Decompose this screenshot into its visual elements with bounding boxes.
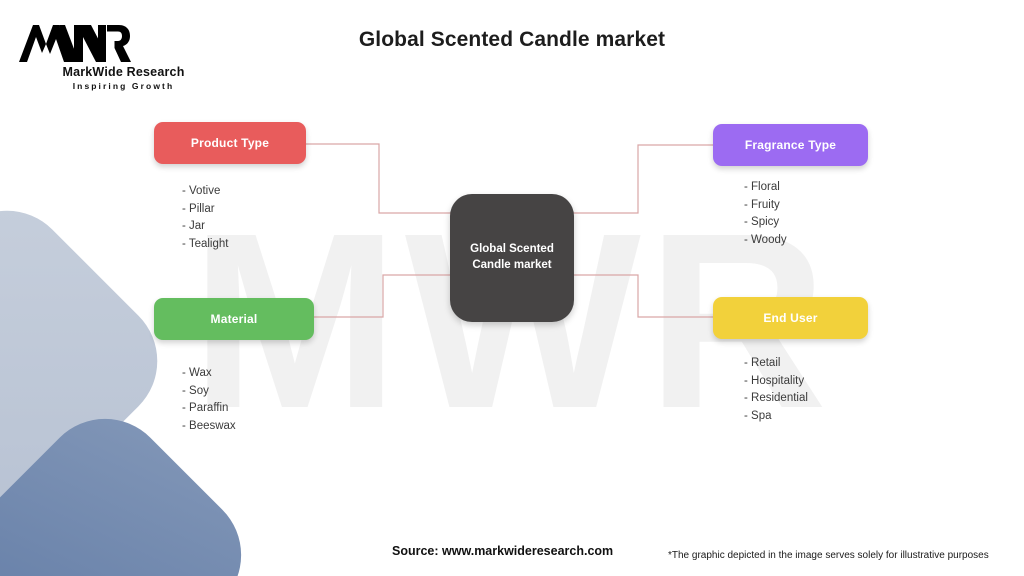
category-items-product-type: - Votive - Pillar - Jar - Tealight [154, 183, 306, 253]
category-end-user: End User - Retail - Hospitality - Reside… [713, 297, 868, 425]
category-label-product-type: Product Type [191, 136, 269, 150]
list-item: - Paraffin [182, 400, 314, 418]
center-node-label: Global Scented Candle market [470, 242, 554, 273]
logo-company-name: MarkWide Research [16, 65, 231, 79]
list-item: - Jar [182, 218, 306, 236]
list-item: - Tealight [182, 236, 306, 254]
list-item: - Residential [744, 390, 868, 408]
category-items-end-user: - Retail - Hospitality - Residential - S… [713, 355, 868, 425]
center-node: Global Scented Candle market [450, 194, 574, 322]
list-item: - Wax [182, 365, 314, 383]
category-material: Material - Wax - Soy - Paraffin - Beeswa… [154, 298, 314, 435]
list-item: - Votive [182, 183, 306, 201]
list-item: - Spa [744, 408, 868, 426]
logo-tagline: Inspiring Growth [16, 81, 231, 91]
list-item: - Soy [182, 383, 314, 401]
disclaimer-text: *The graphic depicted in the image serve… [668, 550, 989, 561]
category-header-material[interactable]: Material [154, 298, 314, 340]
list-item: - Spicy [744, 214, 868, 232]
category-product-type: Product Type - Votive - Pillar - Jar - T… [154, 122, 306, 253]
category-label-material: Material [211, 312, 258, 326]
category-label-fragrance-type: Fragrance Type [745, 138, 836, 152]
source-text: Source: www.markwideresearch.com [392, 544, 613, 558]
category-label-end-user: End User [763, 311, 817, 325]
list-item: - Woody [744, 232, 868, 250]
infographic-canvas: MWR MarkWide Research Inspiring Growth G… [0, 0, 1024, 576]
category-items-material: - Wax - Soy - Paraffin - Beeswax [154, 365, 314, 435]
list-item: - Beeswax [182, 418, 314, 436]
category-items-fragrance-type: - Floral - Fruity - Spicy - Woody [713, 179, 868, 249]
page-title: Global Scented Candle market [0, 28, 1024, 52]
category-header-product-type[interactable]: Product Type [154, 122, 306, 164]
list-item: - Retail [744, 355, 868, 373]
list-item: - Hospitality [744, 373, 868, 391]
category-header-fragrance-type[interactable]: Fragrance Type [713, 124, 868, 166]
category-fragrance-type: Fragrance Type - Floral - Fruity - Spicy… [713, 124, 868, 249]
list-item: - Pillar [182, 201, 306, 219]
list-item: - Fruity [744, 197, 868, 215]
list-item: - Floral [744, 179, 868, 197]
category-header-end-user[interactable]: End User [713, 297, 868, 339]
